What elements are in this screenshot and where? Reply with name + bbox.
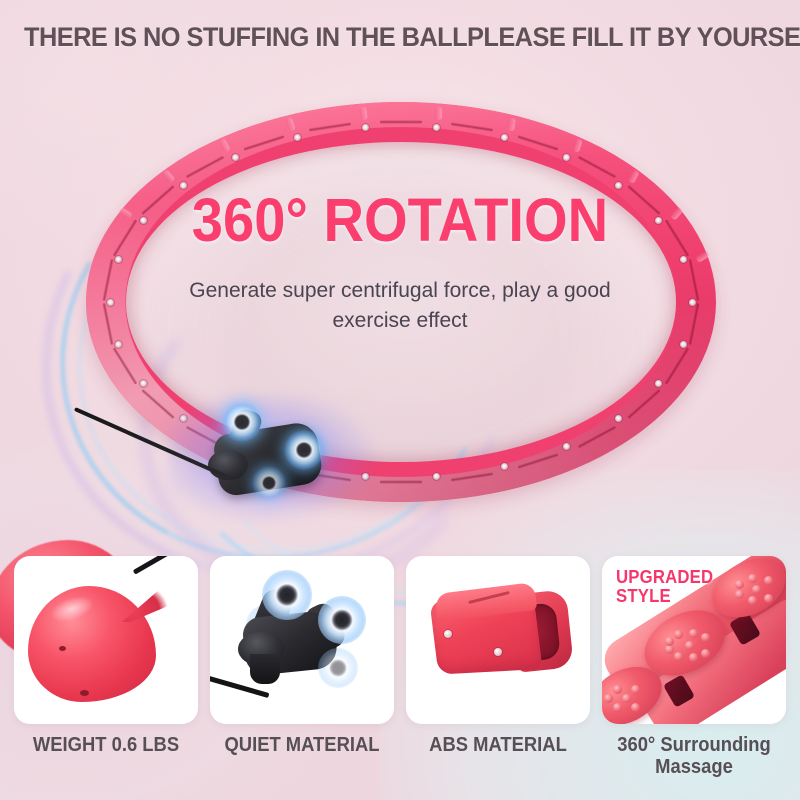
abs-link-screw-left xyxy=(444,630,452,638)
bearing-hub-post xyxy=(250,654,280,684)
massage-bump xyxy=(735,580,744,589)
hoop-segment-screw xyxy=(501,134,508,141)
hero-subtitle: Generate super centrifugal force, play a… xyxy=(160,276,640,337)
caption-abs-material: ABS MATERIAL xyxy=(413,730,582,792)
caption-weight: WEIGHT 0.6 LBS xyxy=(21,730,190,792)
hoop-segment-screw xyxy=(563,154,570,161)
hero-title: 360° ROTATION xyxy=(32,190,768,251)
feature-card-abs-material[interactable] xyxy=(406,556,590,724)
hoop-segment-screw xyxy=(232,154,239,161)
roller-bearing-photo xyxy=(210,556,394,724)
bearing-wheel-top xyxy=(262,570,312,620)
upgraded-style-line1: UPGRADED xyxy=(616,568,713,587)
hoop-segment-screw xyxy=(433,124,440,131)
caption-massage: 360° Surrounding Massage xyxy=(609,730,778,792)
hoop-segment-screw xyxy=(689,299,696,306)
feature-card-massage[interactable]: UPGRADED STYLE xyxy=(602,556,786,724)
abs-link-photo xyxy=(406,556,590,724)
massage-bump xyxy=(604,694,613,703)
hoop-segment-screw xyxy=(107,299,114,306)
feature-caption-row: WEIGHT 0.6 LBS QUIET MATERIAL ABS MATERI… xyxy=(14,730,786,792)
roller-wheel-right xyxy=(284,430,324,470)
massage-bump xyxy=(748,596,757,605)
upgraded-style-line2: STYLE xyxy=(616,587,713,606)
bearing-wheel-right xyxy=(318,596,366,644)
hoop-segment-screw xyxy=(501,463,508,470)
hoop-segment-screw xyxy=(180,182,187,189)
caption-quiet-material: QUIET MATERIAL xyxy=(217,730,386,792)
massage-bump xyxy=(764,594,773,603)
feature-card-quiet-material[interactable] xyxy=(210,556,394,724)
weight-ball-cord xyxy=(133,556,186,575)
massage-bump xyxy=(748,574,757,583)
hoop-segment-screw xyxy=(433,473,440,480)
massage-bump xyxy=(685,641,694,650)
roller-hub-assembly xyxy=(178,400,368,520)
bearing-wheel-lower xyxy=(318,648,358,688)
roller-wheel-back xyxy=(252,466,286,500)
massage-bump xyxy=(622,694,631,703)
weight-ball-hole-lower xyxy=(80,690,89,696)
massage-bump xyxy=(689,629,698,638)
massage-bump xyxy=(665,637,674,646)
abs-link-screw-right xyxy=(494,648,502,656)
roller-wheel-top xyxy=(222,402,262,442)
feature-card-weight[interactable] xyxy=(14,556,198,724)
hoop-segment-seam xyxy=(380,480,422,484)
product-marketing-image: THERE IS NO STUFFING IN THE BALLPLEASE F… xyxy=(0,0,800,800)
massage-bump xyxy=(735,590,744,599)
feature-card-row: UPGRADED STYLE xyxy=(14,556,786,724)
weight-ball-photo xyxy=(14,556,198,724)
hoop-segment-notch xyxy=(435,107,442,120)
massage-bump xyxy=(613,685,622,694)
upgraded-style-badge: UPGRADED STYLE xyxy=(616,568,713,607)
massage-bump xyxy=(631,685,640,694)
hoop-segment-seam xyxy=(380,120,422,124)
weight-ball-hole-upper xyxy=(59,646,66,651)
hoop-segment-screw xyxy=(115,341,122,348)
massage-bump xyxy=(752,585,761,594)
